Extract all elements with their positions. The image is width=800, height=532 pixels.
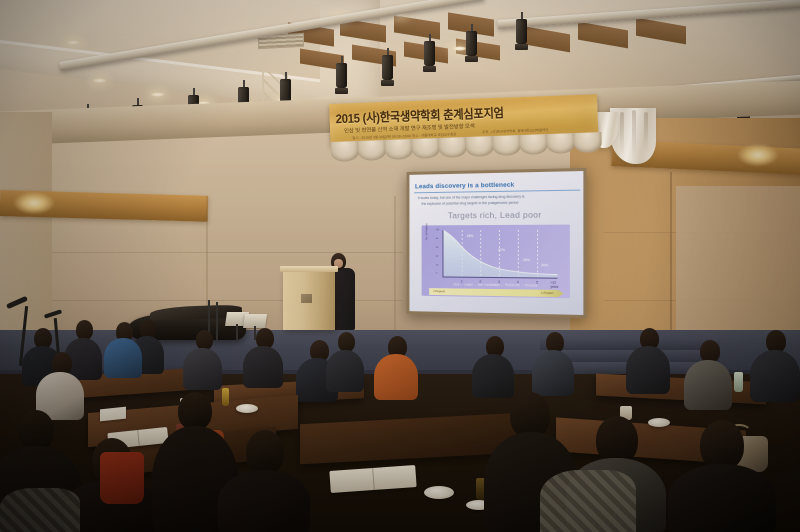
valance-pleat [519,134,548,155]
conference-hall-photo: 2015 (사)한국생약학회 춘계심포지엄 인삼 및 천연물 신약 소재 개발 … [0,0,800,532]
chart-ytick: 40 [436,256,438,258]
audience-person [684,360,732,410]
audience-head [196,330,213,350]
audience-head [246,430,284,474]
valance-pleat [357,140,386,161]
music-stand-pole [236,324,238,340]
downlight [66,40,81,45]
slide-title: Leads discovery is a bottleneck [415,182,514,191]
valance-pleat [546,133,575,154]
audience-person [243,346,283,388]
beverage-bottle [734,372,743,392]
audience-person-foreground [668,464,776,532]
podium-emblem [301,294,312,303]
chart-annotation: 28% [467,234,474,238]
slide-chart: No. of Projects 100 80 60 40 20 0 [422,225,570,299]
audience-head [178,392,212,430]
valance-pleat [573,132,602,153]
wall-seam [394,196,396,336]
audience-head [76,320,93,340]
ribbon-left-label: n Projects [433,289,445,293]
ceiling-wood-slat [578,22,628,49]
chart-ytick: 100 [436,229,439,231]
stage-step [540,338,720,350]
chart-annotation: 25% [523,258,530,262]
slide-surface: Leads discovery is a bottleneck It works… [409,171,583,315]
wall-seam [52,252,402,253]
audience-person [326,350,364,392]
chart-funnel-ribbon: n Projects 1 Product [429,288,563,297]
stage-light [424,34,435,72]
audience-head [18,410,54,450]
chart-decay-curve [443,230,557,278]
chart-annotation: 41% [498,248,505,252]
chart-plot-area: No. of Projects 100 80 60 40 20 0 [443,230,558,279]
event-banner: 2015 (사)한국생약학회 춘계심포지엄 인삼 및 천연물 신약 소재 개발 … [329,94,599,152]
drape-fold [620,112,624,156]
projection-screen: Leads discovery is a bottleneck It works… [407,168,587,318]
audience-person-patterned-shawl [0,488,80,532]
slide-subtitle: Targets rich, Lead poor [409,209,583,221]
audience-person [183,348,222,390]
beverage-bottle [222,388,229,406]
downlight [452,46,467,51]
audience-person [532,350,574,396]
drape-fold [644,112,648,152]
audience-person-patterned-shawl [540,470,636,532]
audience-person [750,350,800,402]
stage-light [336,56,347,94]
chart-ytick: 60 [436,247,438,249]
ceiling-wood-slat [636,18,686,45]
slide-divider [414,190,580,194]
valance-pleat [331,141,360,162]
valance-pleat [411,138,440,159]
ribbon-right-label: 1 Product [541,291,553,295]
audience-person [472,354,514,398]
chart-ytick: 80 [436,238,438,240]
dessert-plate [648,418,670,427]
chart-annotation: 26% [541,263,548,267]
slide-bullet-1: It works today, but one of the major cha… [418,195,525,201]
podium [283,270,335,330]
audience-person [104,338,142,378]
dessert-plate [236,404,258,413]
stage-light [466,24,477,62]
audience-head [338,332,355,352]
slide-bullet-2: the explosion of potential drug targets … [422,201,519,206]
right-wall-inset-panel [676,186,800,338]
chart-ytick: 0 [436,272,437,274]
wall-sconce-right [738,144,778,166]
stage-light [516,12,527,50]
wall-sconce-left [14,192,54,214]
chart-pipeline-label: Idea → Leads → Dev Candidates → PhcDt-Cl… [427,282,565,288]
mic-stand-pole [216,302,218,340]
audience-person-foreground [218,470,310,532]
drape-fold [632,110,636,158]
downlight [150,92,165,97]
valance-pleat [465,136,494,157]
backpack [100,452,144,504]
stage-light [382,48,393,86]
valance-pleat [492,135,521,156]
valance-pleat [384,139,413,160]
valance-pleat [438,137,467,158]
dessert-plate [424,486,454,499]
audience-person [626,346,670,394]
audience-person-orange [374,354,418,400]
audience-head [596,416,638,464]
wall-seam [670,172,672,342]
chart-ytick: 20 [436,265,438,267]
audience-head [700,420,744,470]
chart-ylabel: No. of Projects [425,223,428,240]
downlight [92,78,107,83]
podium-top-surface [280,266,338,272]
